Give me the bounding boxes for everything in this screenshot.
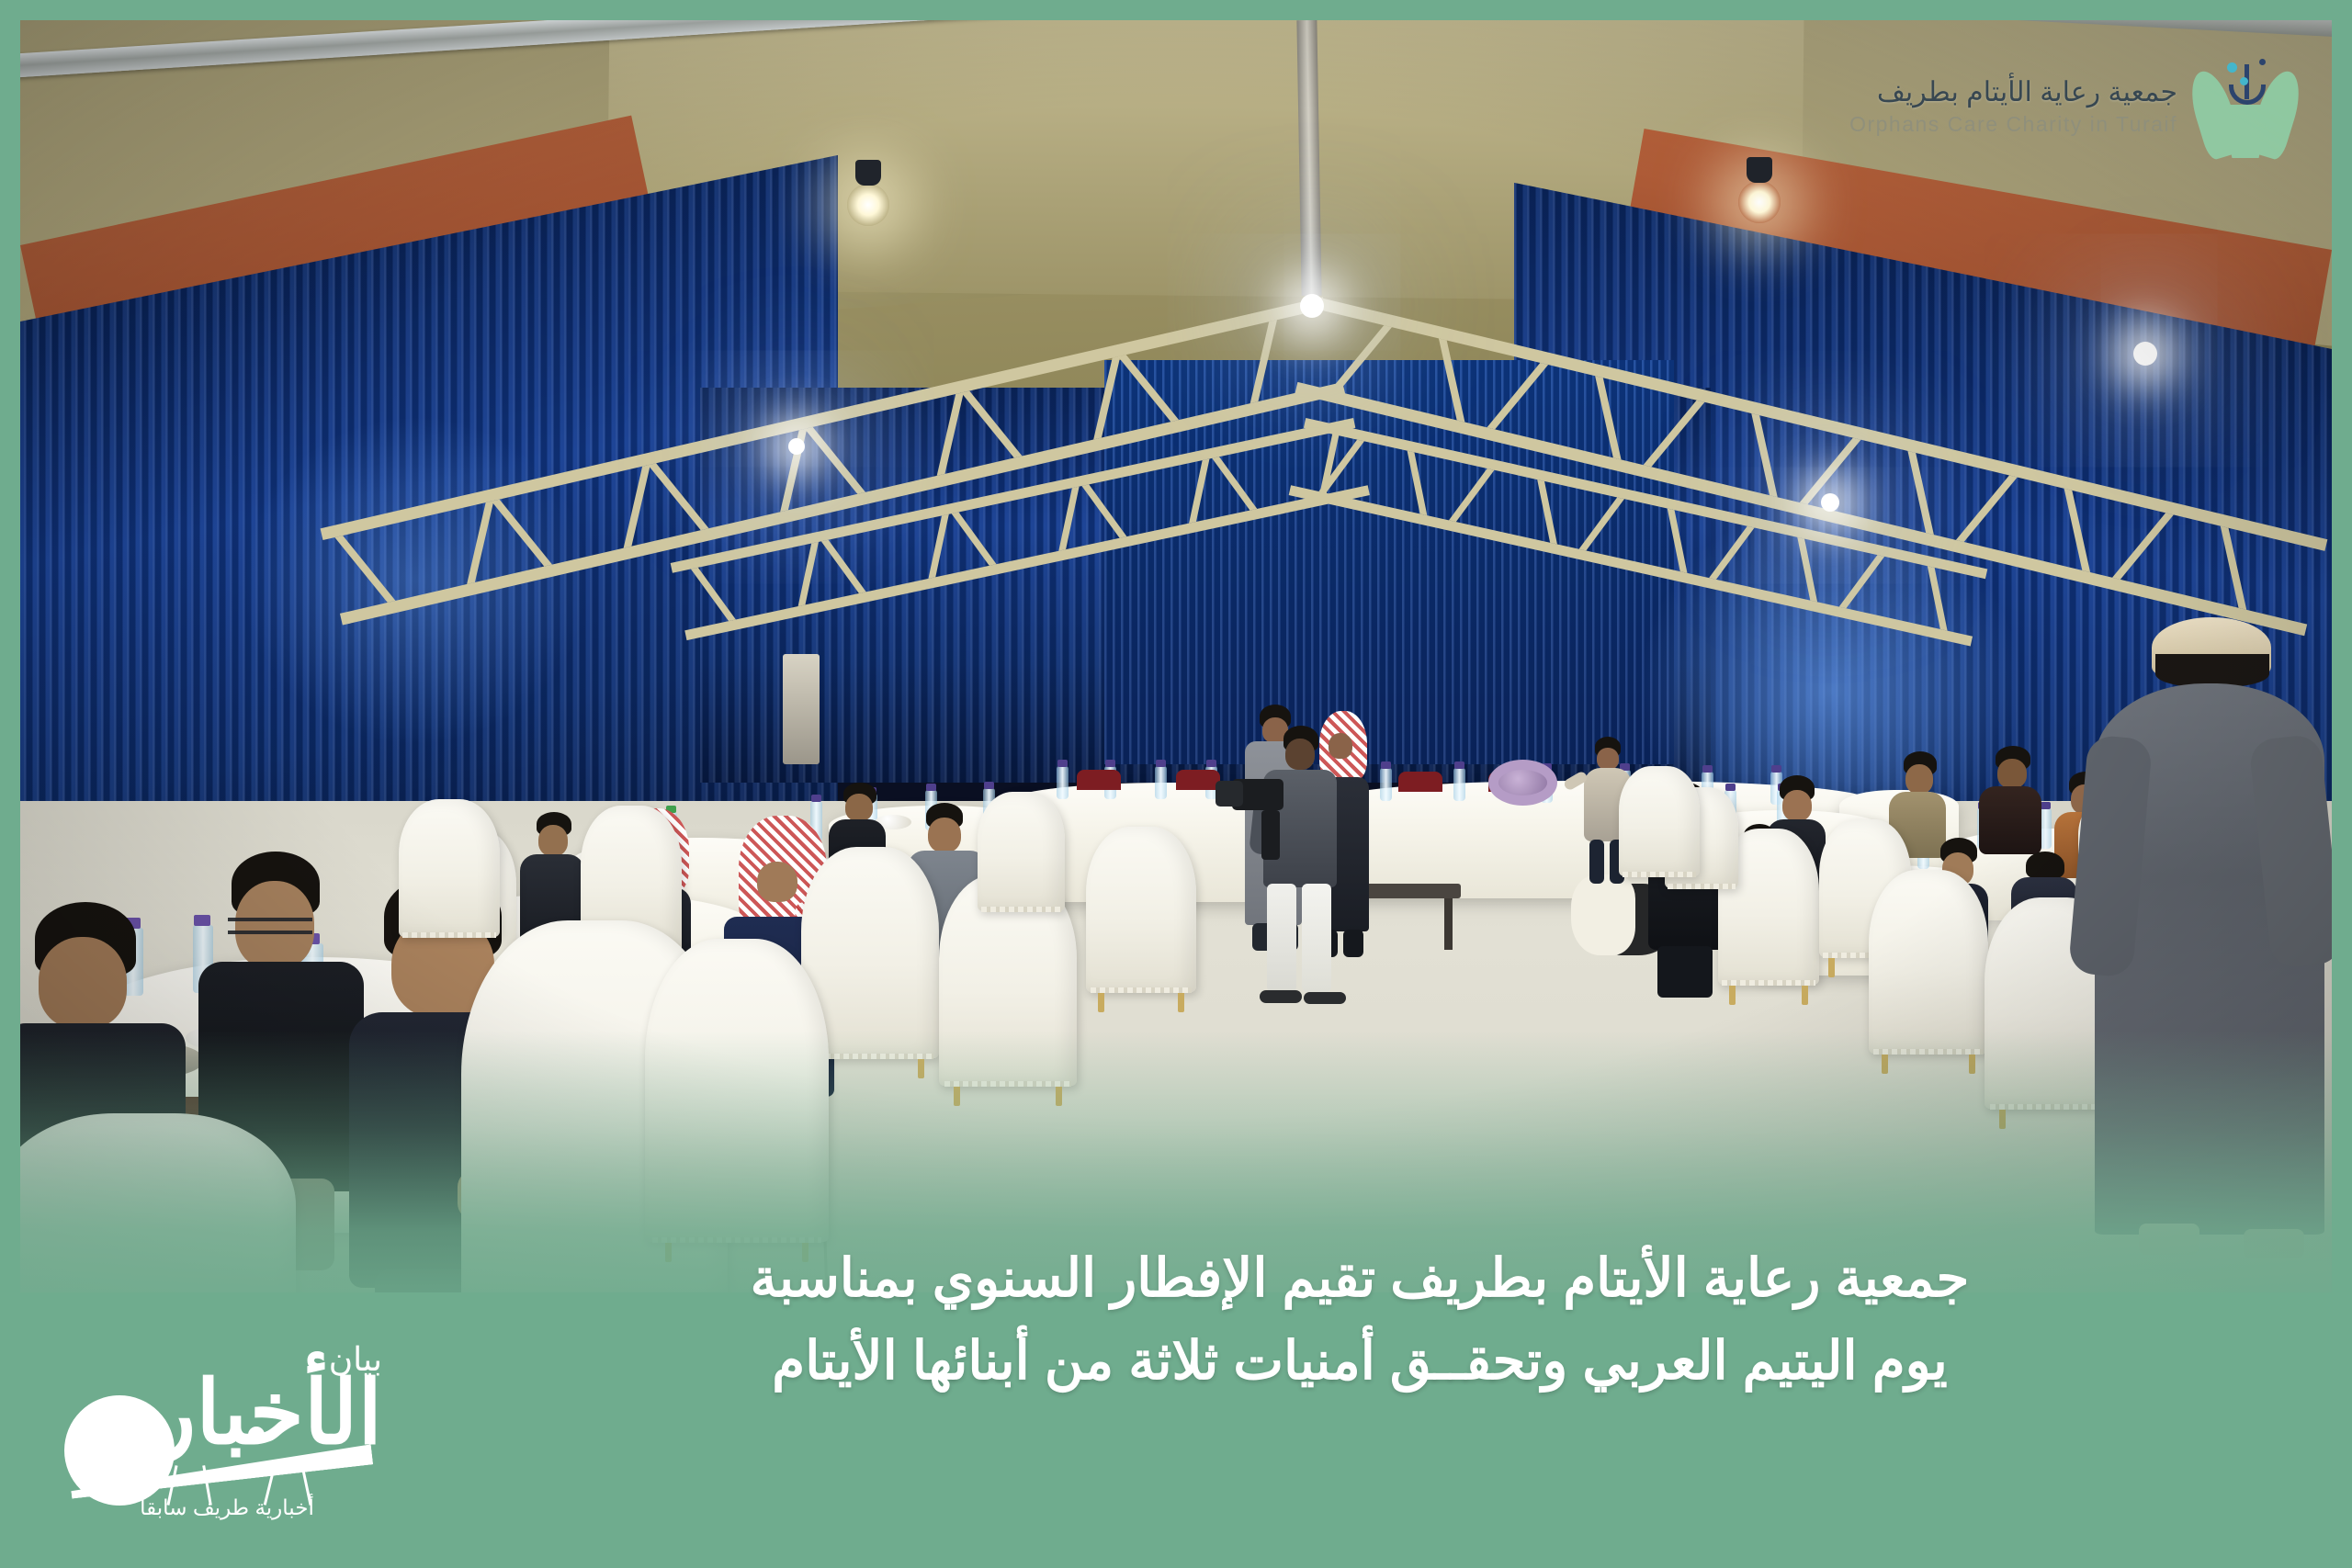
photographer (1247, 726, 1366, 1020)
water-bottle (1057, 766, 1069, 799)
covered-chair (1619, 766, 1700, 876)
camera-grip (1261, 810, 1280, 860)
logo-pin-shape (149, 1441, 165, 1458)
chair-back-red (1398, 772, 1442, 792)
charity-name-arabic: جمعية رعاية الأيتام بطريف (1849, 77, 2177, 109)
water-bottle (1155, 766, 1167, 799)
caption: جمعية رعاية الأيتام بطريف تقيم الإفطار ا… (432, 1237, 2288, 1403)
wall-spotlight-2 (2133, 342, 2157, 366)
charity-logo-text: جمعية رعاية الأيتام بطريف Orphans Care C… (1849, 77, 2177, 137)
folded-chair-cover (1571, 874, 1635, 955)
logo-pin-shape (248, 1427, 265, 1443)
wall-spotlight-3 (1821, 493, 1839, 512)
ceiling-lamp-1 (847, 184, 889, 226)
event-photo (20, 20, 2332, 1334)
camera-lens (1216, 781, 1243, 807)
wall-panel (783, 654, 820, 764)
wall-spotlight-1 (1300, 294, 1324, 318)
news-logo-text: بيان الأخبار (153, 1344, 382, 1455)
chair-back-red (1176, 770, 1220, 790)
covered-chair (645, 939, 829, 1242)
charity-hands-icon (2194, 55, 2297, 158)
covered-chair (1869, 870, 1988, 1054)
news-agency-logo: بيان الأخبار أخبارية طريف سابقاً (57, 1331, 388, 1542)
water-bottle (1453, 768, 1465, 801)
sandal (1260, 990, 1302, 1003)
standing-man-foreground (2078, 617, 2332, 1334)
ceiling-lamp-2 (1738, 181, 1781, 223)
wall-spotlight-4 (788, 438, 805, 455)
bench-leg (1444, 898, 1453, 950)
caption-band: جمعية رعاية الأيتام بطريف تقيم الإفطار ا… (0, 1292, 2352, 1568)
news-logo-subtitle: أخبارية طريف سابقاً (75, 1495, 379, 1520)
sandal (1304, 992, 1346, 1004)
news-logo-title: الأخبار (153, 1371, 382, 1455)
covered-chair (978, 792, 1065, 911)
charity-name-english: Orphans Care Charity in Turaif (1849, 112, 2177, 136)
covered-chair (1086, 827, 1196, 992)
caption-line-2: يوم اليتيم العربي وتحقــق أمنيات ثلاثة م… (432, 1320, 2288, 1403)
figure-icon (2225, 57, 2267, 103)
charity-logo: جمعية رعاية الأيتام بطريف Orphans Care C… (1849, 55, 2297, 158)
caption-line-1: جمعية رعاية الأيتام بطريف تقيم الإفطار ا… (432, 1237, 2288, 1320)
chair-back-red (1077, 770, 1121, 790)
news-poster: جمعية رعاية الأيتام بطريف Orphans Care C… (0, 0, 2352, 1568)
purple-fabric-roll (1488, 760, 1557, 806)
covered-chair (399, 799, 500, 937)
hair-back (2155, 654, 2269, 687)
